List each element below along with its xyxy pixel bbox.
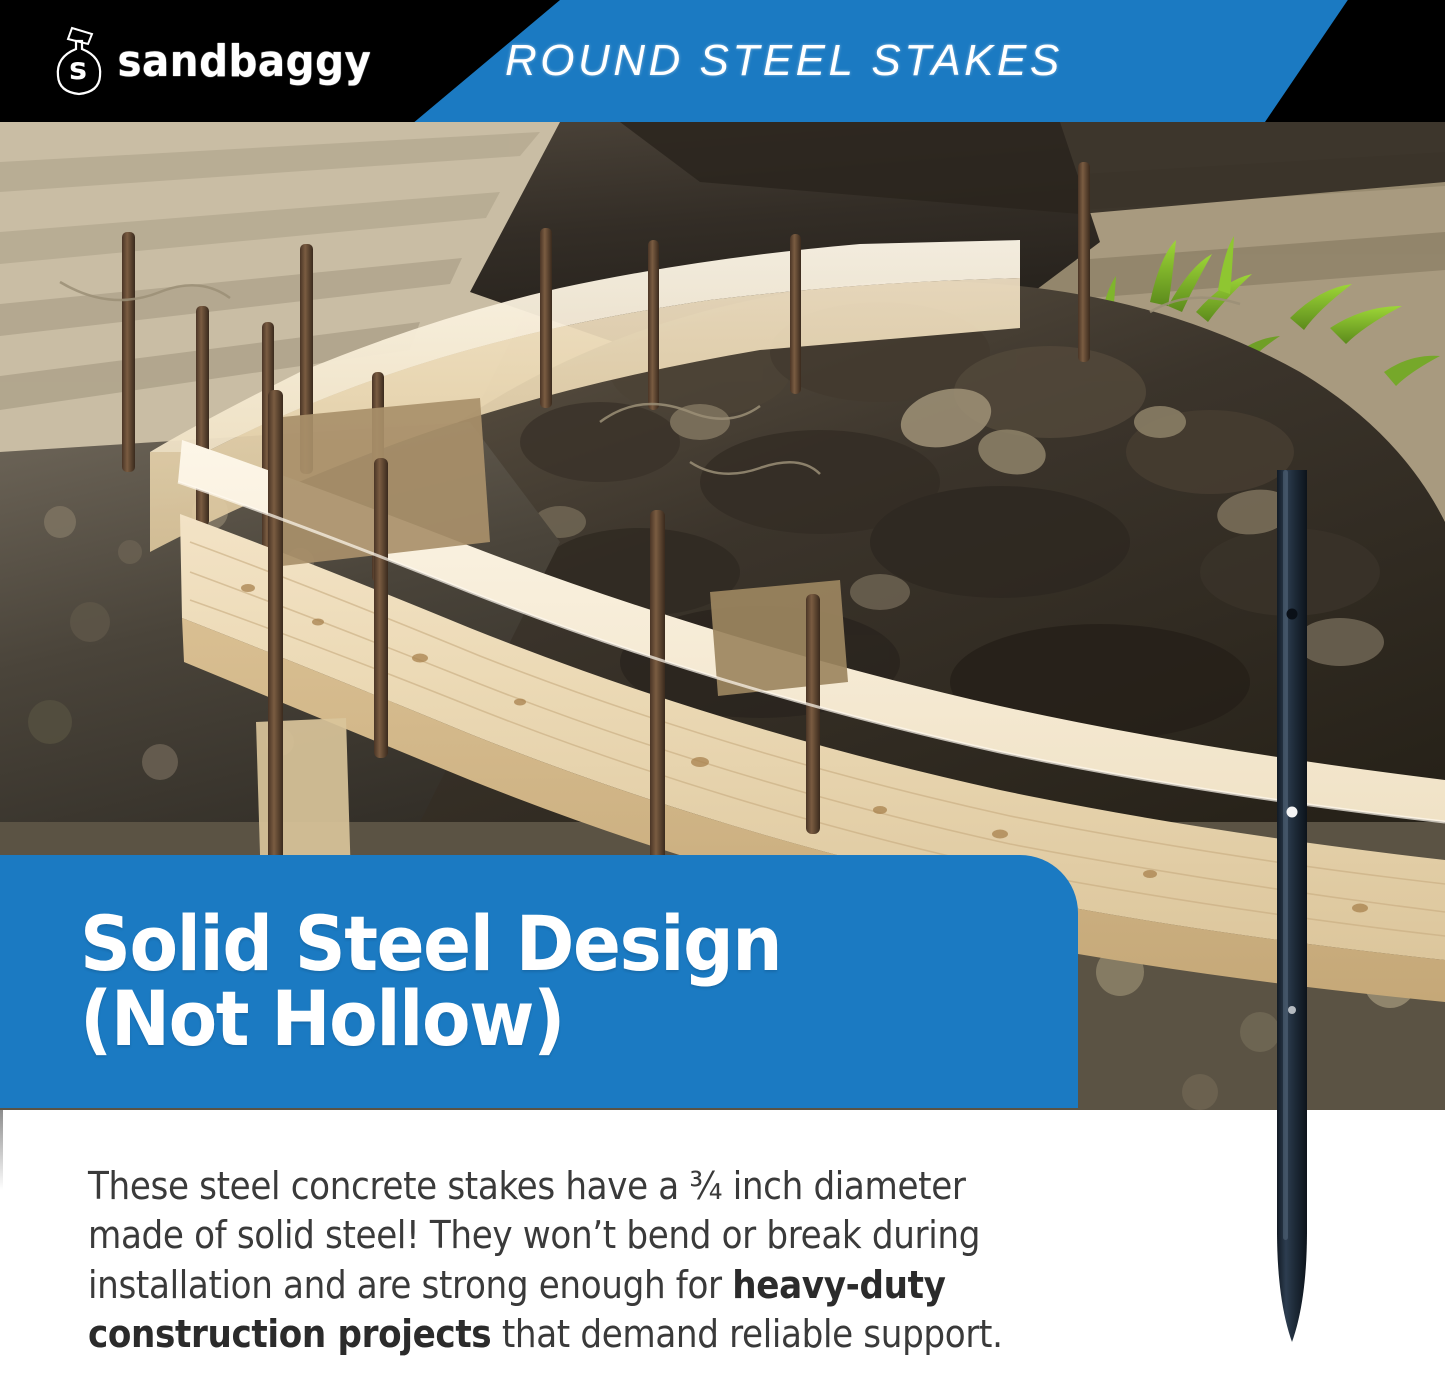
sandbag-icon: s: [52, 24, 106, 98]
body-text-part2: that demand reliable support.: [491, 1312, 1002, 1356]
body-description: These steel concrete stakes have a ¾ inc…: [88, 1162, 1047, 1360]
infographic-page: s sandbaggy ROUND STEEL STAKES: [0, 0, 1445, 1388]
header-bar: s sandbaggy ROUND STEEL STAKES: [0, 0, 1445, 122]
round-steel-stake-photo: [1277, 470, 1307, 1110]
svg-text:s: s: [69, 52, 87, 87]
brand-name: sandbaggy: [118, 36, 372, 87]
brand-logo[interactable]: s sandbaggy: [52, 22, 369, 100]
header-title: ROUND STEEL STAKES: [505, 0, 1063, 122]
headline-banner: Solid Steel Design (Not Hollow): [0, 855, 1078, 1108]
header-black-right-wedge: [1265, 0, 1445, 122]
left-edge-hairline: [0, 1110, 3, 1190]
headline-title: Solid Steel Design (Not Hollow): [0, 907, 781, 1056]
